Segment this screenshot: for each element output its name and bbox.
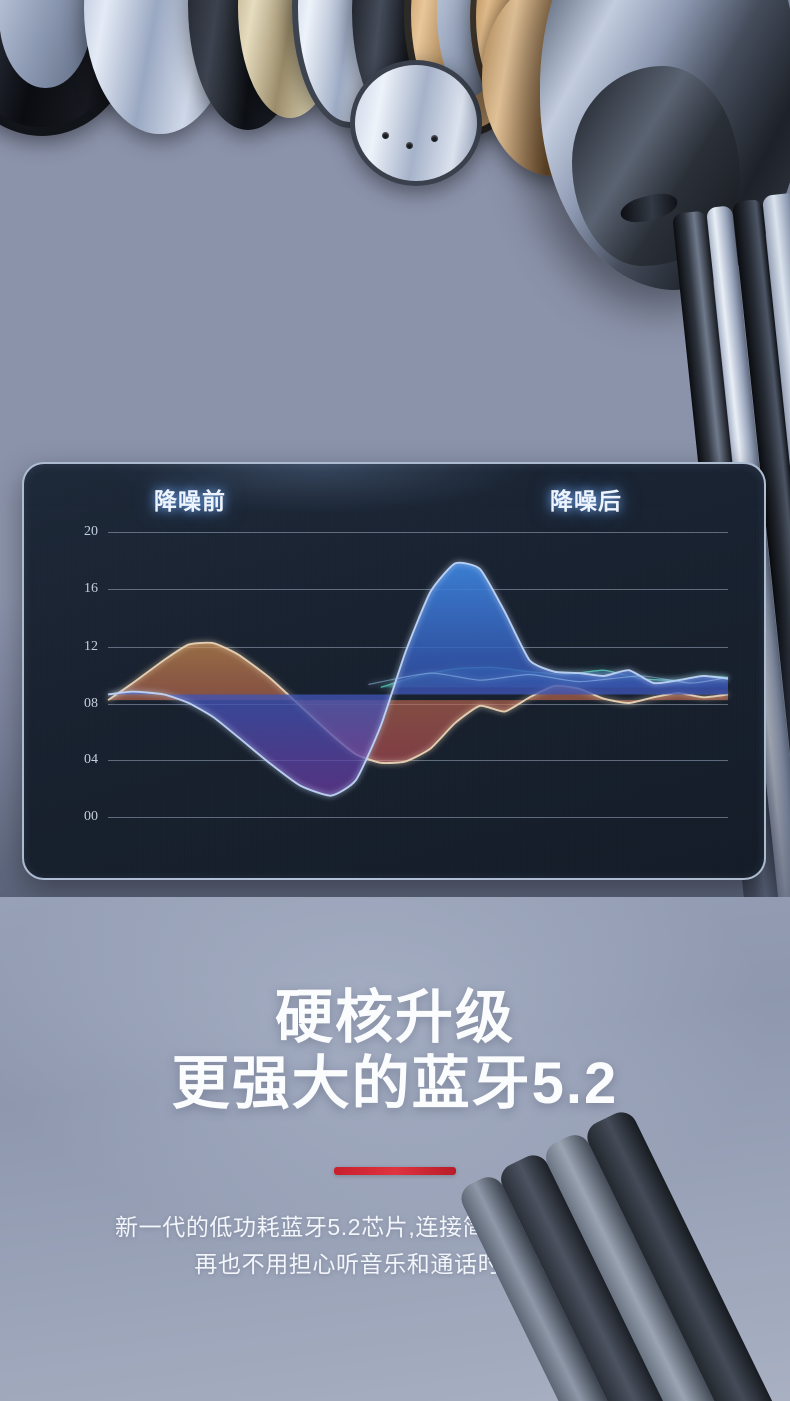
promo-section: 硬核升级 更强大的蓝牙5.2 新一代的低功耗蓝牙5.2芯片,连接简单快捷、信号稳… <box>0 897 790 1401</box>
product-detail-page: 降噪前 降噪后 20 16 12 08 04 00 <box>0 0 790 1401</box>
noise-cancelling-chart-panel: 降噪前 降噪后 20 16 12 08 04 00 <box>22 462 766 880</box>
waveform-plot <box>24 464 766 880</box>
headline-divider <box>334 1167 456 1175</box>
headline-line-1: 硬核升级 <box>275 985 515 1050</box>
driver-vent-plate <box>350 60 482 186</box>
